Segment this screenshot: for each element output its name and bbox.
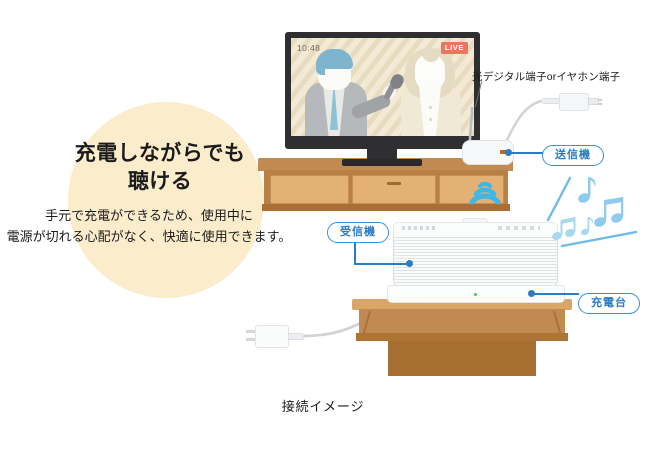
promo-subtext-line1: 手元で充電ができるため、使用中に	[4, 205, 294, 226]
optical-port-label: 光デジタル端子orイヤホン端子	[472, 69, 620, 84]
speaker-grille	[393, 235, 558, 287]
figure-caption: 接続イメージ	[0, 396, 646, 415]
transmitter-callout-dot	[505, 149, 512, 156]
television: 10:48 LIVE	[285, 32, 480, 149]
speaker-control-markings	[498, 226, 540, 230]
promo-headline-line1: 充電しながらでも	[75, 142, 246, 165]
ac-adapter-cable-connector	[288, 333, 304, 340]
tv-stand-foot	[342, 159, 422, 166]
optical-adapter	[559, 93, 589, 111]
promo-subtext: 手元で充電ができるため、使用中に 電源が切れる心配がなく、快適に使用できます。	[4, 205, 294, 247]
tv-person-man-sideburn	[316, 61, 325, 75]
ac-plug-prong	[246, 330, 255, 333]
tv-cabinet-drawer-handle	[387, 182, 401, 185]
speaker-brand-marking	[402, 226, 436, 230]
promo-subtext-line2: 電源が切れる心配がなく、快適に使用できます。	[4, 226, 294, 247]
tv-person-woman-button	[429, 118, 432, 121]
receiver-leader-line-vertical	[354, 241, 356, 264]
label-charging-dock: 充電台	[578, 293, 640, 314]
tv-person-woman-button	[429, 106, 432, 109]
receiver-callout-dot	[406, 260, 413, 267]
live-badge: LIVE	[441, 42, 468, 54]
side-table-lower-rail	[356, 333, 568, 341]
charging-dock-callout-dot	[528, 290, 535, 297]
power-led-indicator	[474, 293, 477, 296]
charging-dock-leader-line	[531, 293, 579, 295]
label-transmitter: 送信機	[542, 145, 604, 166]
illustration-canvas: 充電しながらでも 聴ける 手元で充電ができるため、使用中に 電源が切れる心配がな…	[0, 0, 646, 450]
transmitter-leader-line	[509, 152, 543, 154]
side-table-pedestal	[388, 340, 536, 376]
side-table-apron	[359, 309, 565, 336]
tv-clock: 10:48	[297, 43, 320, 53]
sound-wave-icon	[463, 170, 507, 206]
label-receiver: 受信機	[327, 222, 389, 243]
promo-background-circle	[68, 102, 264, 298]
tv-screen: 10:48 LIVE	[291, 38, 474, 136]
optical-plug-tip	[598, 99, 602, 101]
tv-cabinet-drawer	[352, 175, 436, 204]
tv-cabinet-drawer	[270, 175, 349, 204]
ac-power-adapter	[255, 325, 289, 348]
optical-cable-barrel	[541, 98, 561, 104]
receiver-leader-line	[354, 263, 407, 265]
optical-plug-tip	[598, 103, 602, 105]
ac-plug-prong	[246, 338, 255, 341]
